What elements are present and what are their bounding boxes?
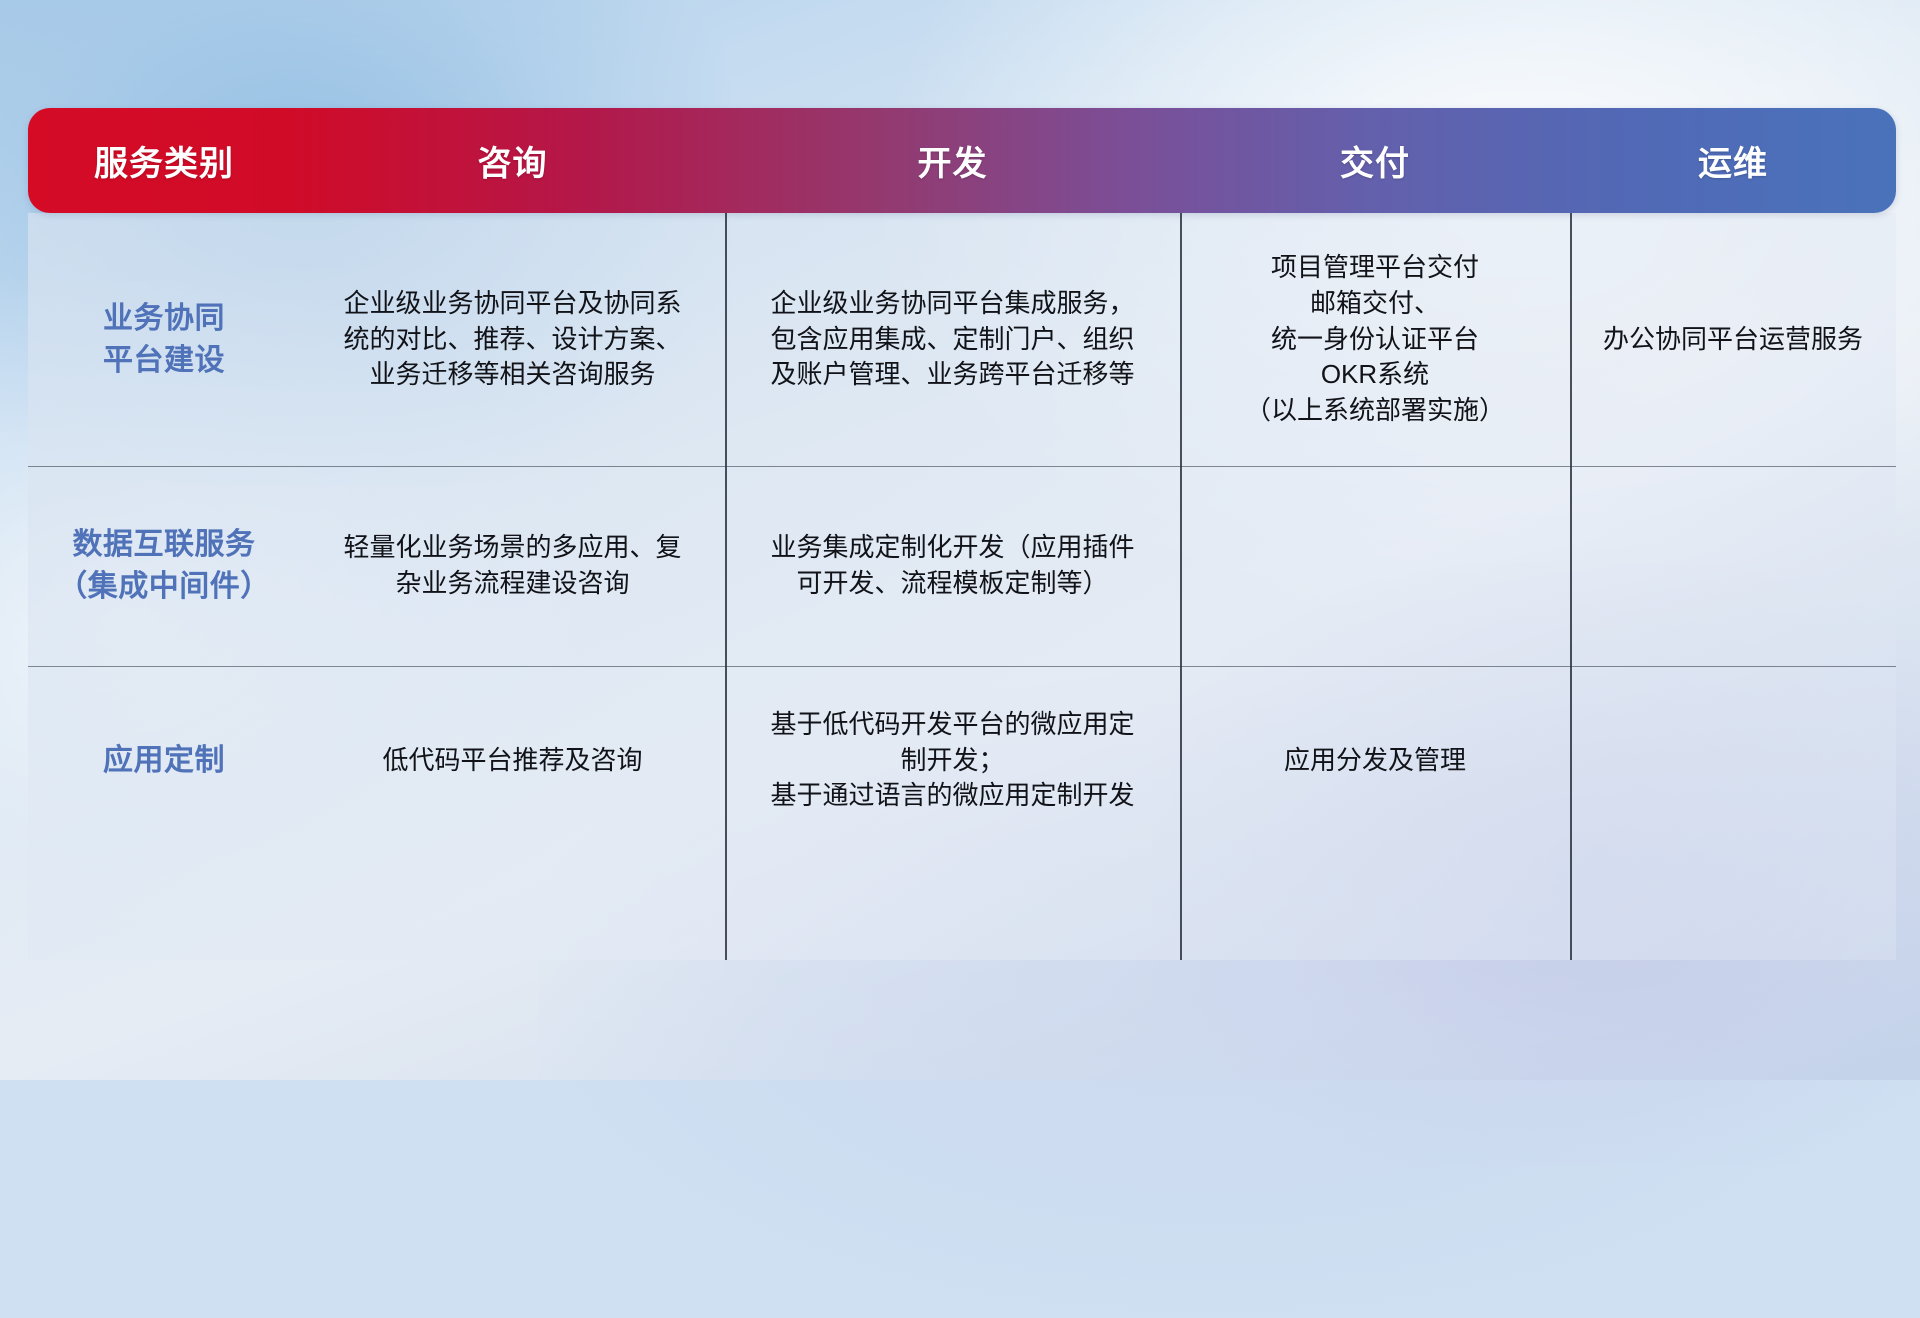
cell-consulting: 低代码平台推荐及咨询: [300, 666, 725, 855]
column-divider: [1180, 213, 1182, 960]
header-cell-delivery: 交付: [1180, 136, 1570, 185]
cell-consulting: 企业级业务协同平台及协同系 统的对比、推荐、设计方案、 业务迁移等相关咨询服务: [300, 213, 725, 466]
table-row: 应用定制 低代码平台推荐及咨询 基于低代码开发平台的微应用定 制开发； 基于通过…: [28, 666, 1896, 855]
cell-delivery: 应用分发及管理: [1180, 666, 1570, 855]
cell-operations: [1570, 666, 1896, 855]
cell-development: 业务集成定制化开发（应用插件 可开发、流程模板定制等）: [725, 466, 1180, 666]
table-row: 数据互联服务 （集成中间件） 轻量化业务场景的多应用、复 杂业务流程建设咨询 业…: [28, 466, 1896, 666]
cell-category: 应用定制: [28, 666, 300, 855]
cell-delivery: [1180, 466, 1570, 666]
cell-delivery: 项目管理平台交付 邮箱交付、 统一身份认证平台 OKR系统 （以上系统部署实施）: [1180, 213, 1570, 466]
cell-development: 基于低代码开发平台的微应用定 制开发； 基于通过语言的微应用定制开发: [725, 666, 1180, 855]
cell-category: 数据互联服务 （集成中间件）: [28, 466, 300, 666]
header-cell-category: 服务类别: [28, 136, 300, 185]
row-divider: [28, 666, 1896, 667]
header-cell-operations: 运维: [1570, 136, 1896, 185]
column-divider: [725, 213, 727, 960]
column-divider: [1570, 213, 1572, 960]
header-cell-consulting: 咨询: [300, 136, 725, 185]
cell-category: 业务协同 平台建设: [28, 213, 300, 466]
table-header-row: 服务类别 咨询 开发 交付 运维: [28, 108, 1896, 213]
header-cell-development: 开发: [725, 136, 1180, 185]
row-divider: [28, 466, 1896, 467]
cell-operations: [1570, 466, 1896, 666]
table-row: 业务协同 平台建设 企业级业务协同平台及协同系 统的对比、推荐、设计方案、 业务…: [28, 213, 1896, 466]
cell-development: 企业级业务协同平台集成服务， 包含应用集成、定制门户、组织 及账户管理、业务跨平…: [725, 213, 1180, 466]
cell-operations: 办公协同平台运营服务: [1570, 213, 1896, 466]
service-matrix-table: 服务类别 咨询 开发 交付 运维 业务协同 平台建设 企业级业务协同平台及协同系…: [28, 108, 1896, 960]
cell-consulting: 轻量化业务场景的多应用、复 杂业务流程建设咨询: [300, 466, 725, 666]
